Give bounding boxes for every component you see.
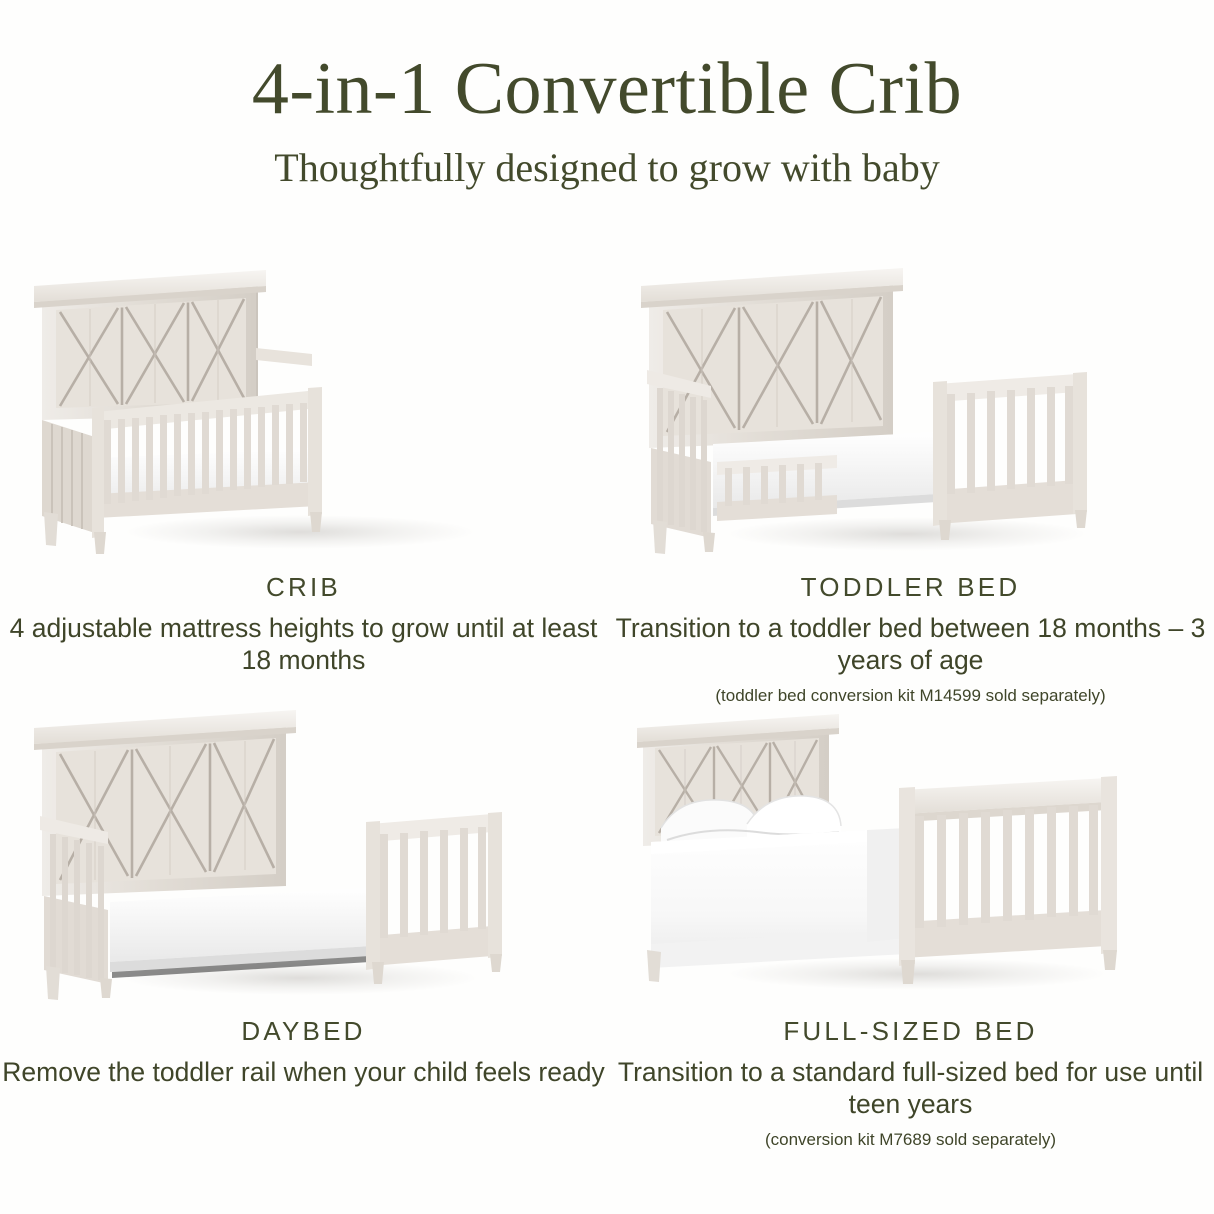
caption-body: Transition to a toddler bed between 18 m… — [607, 612, 1214, 677]
caption-title: TODDLER BED — [607, 572, 1214, 603]
panel-crib: CRIB 4 adjustable mattress heights to gr… — [0, 262, 607, 706]
panel-full-sized-bed: FULL-SIZED BED Transition to a standard … — [607, 706, 1214, 1150]
caption-fine-print: (toddler bed conversion kit M14599 sold … — [607, 686, 1214, 706]
page-subtitle: Thoughtfully designed to grow with baby — [0, 148, 1214, 188]
caption-title: FULL-SIZED BED — [607, 1016, 1214, 1047]
panel-grid: CRIB 4 adjustable mattress heights to gr… — [0, 262, 1214, 1150]
caption-daybed: DAYBED Remove the toddler rail when your… — [0, 1016, 607, 1088]
full-sized-bed-illustration — [607, 706, 1214, 1006]
toddler-bed-illustration — [607, 262, 1214, 562]
page-title: 4-in-1 Convertible Crib — [0, 52, 1214, 126]
caption-toddler-bed: TODDLER BED Transition to a toddler bed … — [607, 572, 1214, 706]
toddler-bed-drawing — [607, 262, 1214, 562]
full-sized-bed-drawing — [607, 706, 1214, 1006]
caption-full-sized-bed: FULL-SIZED BED Transition to a standard … — [607, 1016, 1214, 1150]
caption-title: DAYBED — [0, 1016, 607, 1047]
caption-title: CRIB — [0, 572, 607, 603]
caption-body: Remove the toddler rail when your child … — [0, 1056, 607, 1088]
caption-body: 4 adjustable mattress heights to grow un… — [0, 612, 607, 677]
infographic-page: 4-in-1 Convertible Crib Thoughtfully des… — [0, 0, 1214, 1214]
caption-crib: CRIB 4 adjustable mattress heights to gr… — [0, 572, 607, 677]
daybed-drawing — [0, 706, 607, 1006]
panel-toddler-bed: TODDLER BED Transition to a toddler bed … — [607, 262, 1214, 706]
crib-illustration — [0, 262, 607, 562]
caption-body: Transition to a standard full-sized bed … — [607, 1056, 1214, 1121]
header: 4-in-1 Convertible Crib Thoughtfully des… — [0, 0, 1214, 188]
caption-fine-print: (conversion kit M7689 sold separately) — [607, 1130, 1214, 1150]
crib-drawing — [0, 262, 607, 562]
panel-daybed: DAYBED Remove the toddler rail when your… — [0, 706, 607, 1150]
daybed-illustration — [0, 706, 607, 1006]
